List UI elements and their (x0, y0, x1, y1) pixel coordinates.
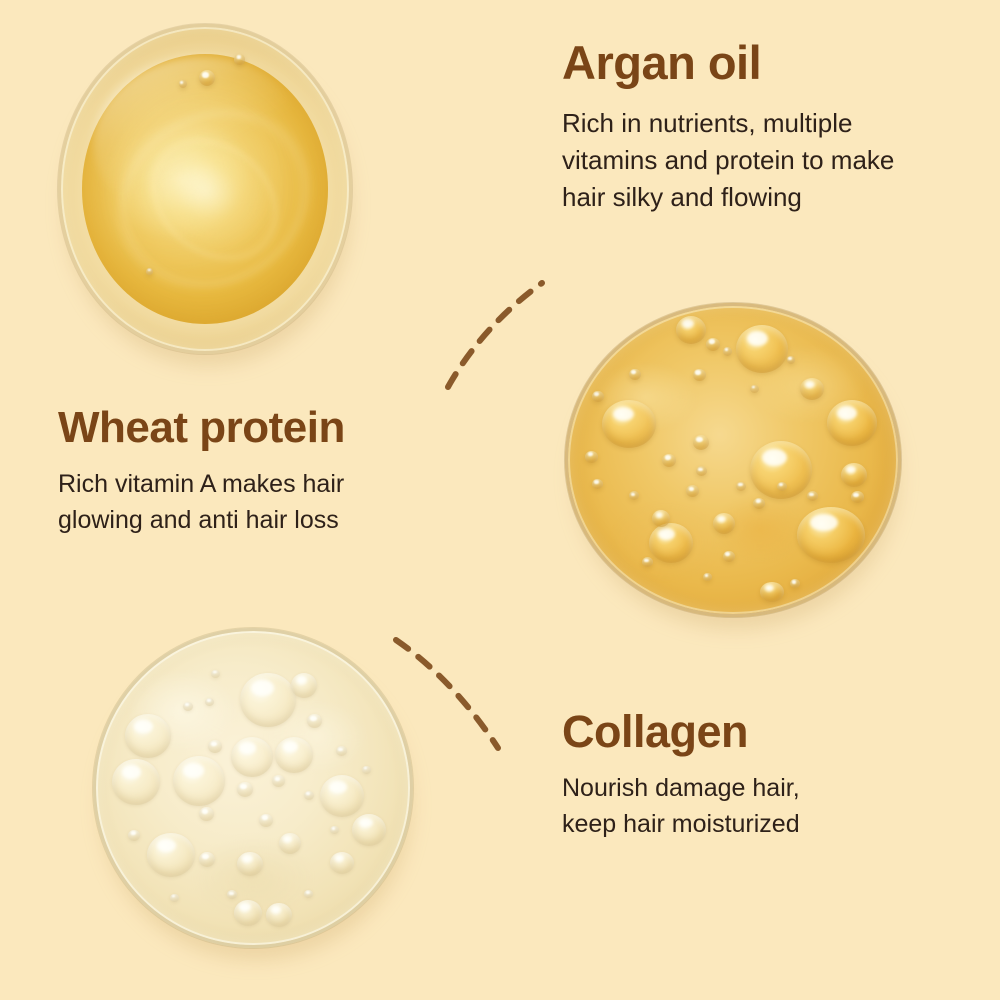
dashed-curve-path (448, 283, 542, 387)
wheat-protein-text-block: Wheat protein Rich vitamin A makes hair … (58, 405, 478, 538)
collagen-text-block: Collagen Nourish damage hair, keep hair … (562, 708, 982, 842)
wheat-protein-heading: Wheat protein (58, 405, 478, 451)
wheat-protein-description: Rich vitamin A makes hair glowing and an… (58, 467, 478, 538)
dish-glass (58, 24, 352, 354)
dish-inner-shade (58, 24, 352, 354)
dish-rim-gloss (99, 634, 406, 941)
dish-rim-gloss (572, 309, 895, 610)
argan-oil-dish (58, 24, 352, 354)
argan-oil-heading: Argan oil (562, 38, 982, 87)
argan-oil-description: Rich in nutrients, multiple vitamins and… (562, 105, 982, 216)
collagen-dish (565, 303, 901, 617)
wheat-protein-dish (93, 628, 413, 948)
collagen-heading: Collagen (562, 708, 982, 755)
ingredient-infographic: Argan oil Rich in nutrients, multiple vi… (0, 0, 1000, 1000)
collagen-description: Nourish damage hair, keep hair moisturiz… (562, 771, 982, 842)
argan-oil-text-block: Argan oil Rich in nutrients, multiple vi… (562, 38, 982, 216)
